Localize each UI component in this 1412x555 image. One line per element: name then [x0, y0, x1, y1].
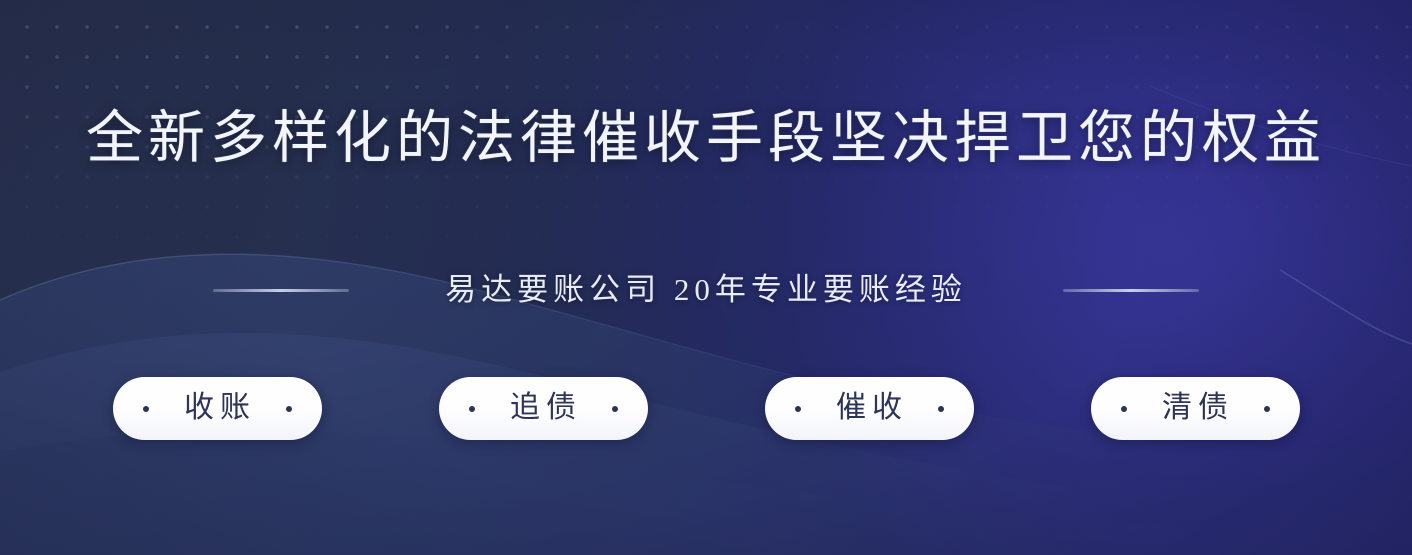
right-rule-divider: [1063, 289, 1199, 292]
service-pill-zhuizhai[interactable]: 追债: [439, 377, 648, 440]
service-pill-label: 追债: [504, 393, 582, 425]
bullet-dot-right-icon: [286, 406, 292, 412]
service-pill-cuishou[interactable]: 催收: [765, 377, 974, 440]
service-pill-label: 催收: [830, 393, 908, 425]
bullet-dot-left-icon: [795, 406, 801, 412]
bullet-dot-right-icon: [612, 406, 618, 412]
banner-headline: 全新多样化的法律催收手段坚决捍卫您的权益: [0, 104, 1412, 174]
service-pill-qingzhai[interactable]: 清债: [1091, 377, 1300, 440]
bullet-dot-left-icon: [1121, 406, 1127, 412]
service-pill-label: 收账: [178, 393, 256, 425]
subtitle-row: 易达要账公司 20年专业要账经验: [0, 265, 1412, 315]
bullet-dot-left-icon: [143, 406, 149, 412]
service-pill-label: 清债: [1156, 393, 1234, 425]
banner-content: 全新多样化的法律催收手段坚决捍卫您的权益 易达要账公司 20年专业要账经验 收账…: [0, 0, 1412, 555]
service-pill-row: 收账 追债 催收 清债: [0, 377, 1412, 440]
left-rule-divider: [213, 289, 349, 292]
hero-banner: 全新多样化的法律催收手段坚决捍卫您的权益 易达要账公司 20年专业要账经验 收账…: [0, 0, 1412, 555]
bullet-dot-right-icon: [1264, 406, 1270, 412]
banner-subtitle: 易达要账公司 20年专业要账经验: [445, 265, 967, 315]
bullet-dot-left-icon: [469, 406, 475, 412]
bullet-dot-right-icon: [938, 406, 944, 412]
service-pill-shouzhang[interactable]: 收账: [113, 377, 322, 440]
